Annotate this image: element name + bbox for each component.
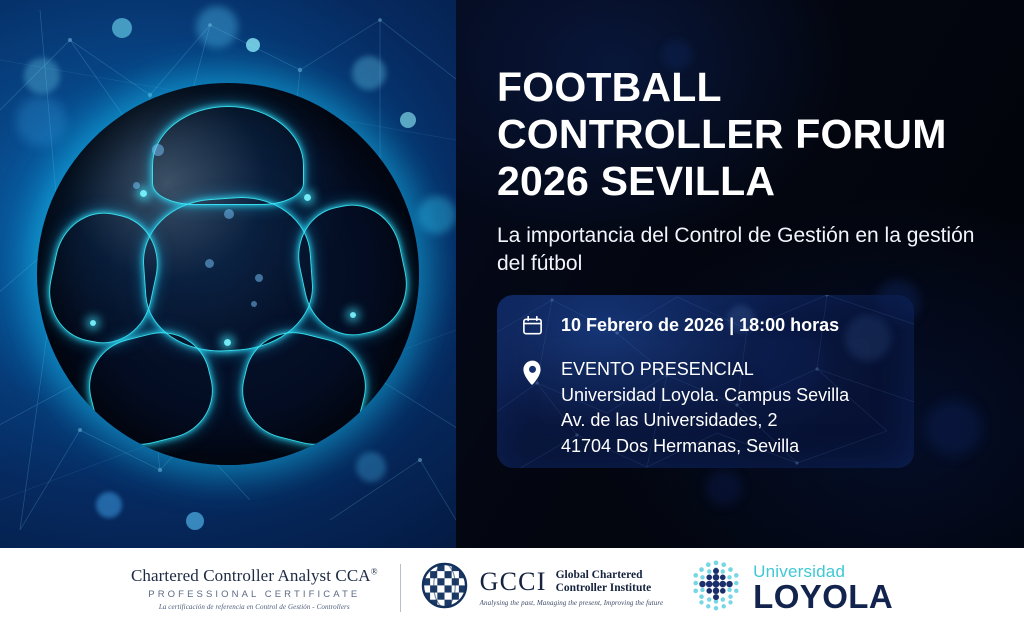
location-line-1: EVENTO PRESENCIAL	[561, 357, 849, 383]
event-location-text: EVENTO PRESENCIAL Universidad Loyola. Ca…	[561, 357, 849, 459]
headline-line-2: CONTROLLER FORUM	[497, 111, 997, 158]
ball-speck	[152, 144, 164, 156]
event-date-text: 10 Febrero de 2026 | 18:00 horas	[561, 313, 839, 339]
calendar-icon	[519, 314, 545, 337]
headline-line-1: FOOTBALL	[497, 64, 997, 111]
logo-strip: Chartered Controller Analyst CCA® PROFES…	[131, 557, 893, 620]
logo-divider	[400, 564, 401, 612]
location-line-2: Universidad Loyola. Campus Sevilla	[561, 383, 849, 409]
ball-speck	[255, 274, 263, 282]
gcci-tagline: Analysing the past, Managing the present…	[480, 599, 664, 607]
gcci-name-row: GCCI Global Chartered Controller Institu…	[480, 569, 664, 595]
cca-subtitle: PROFESSIONAL CERTIFICATE	[131, 589, 378, 600]
loyola-logo: Universidad LOYOLA	[687, 557, 893, 620]
cca-title: Chartered Controller Analyst CCA®	[131, 566, 378, 586]
map-pin-icon	[519, 357, 545, 386]
bokeh-light	[706, 470, 742, 506]
loyola-universidad-label: Universidad	[753, 563, 893, 580]
ball-speck	[133, 182, 140, 189]
event-poster: FOOTBALL CONTROLLER FORUM 2026 SEVILLA L…	[0, 0, 1024, 628]
cca-tagline: La certificación de referencia en Contro…	[131, 603, 378, 611]
cca-logo: Chartered Controller Analyst CCA® PROFES…	[131, 566, 400, 611]
event-details-card: 10 Febrero de 2026 | 18:00 horas EVENTO …	[497, 295, 914, 468]
page-title: FOOTBALL CONTROLLER FORUM 2026 SEVILLA	[497, 64, 997, 205]
ball-speck	[251, 301, 257, 307]
loyola-dotted-globe-icon	[687, 557, 745, 620]
ball-artwork-panel	[0, 0, 456, 548]
page-subtitle: La importancia del Control de Gestión en…	[497, 222, 983, 278]
poster-hero: FOOTBALL CONTROLLER FORUM 2026 SEVILLA L…	[0, 0, 1024, 548]
gcci-abbreviation: GCCI	[480, 569, 547, 595]
headline-line-3: 2026 SEVILLA	[497, 158, 997, 205]
cca-registered-mark: ®	[371, 566, 378, 576]
gcci-checkered-globe-icon	[421, 562, 468, 614]
gcci-text-lockup: GCCI Global Chartered Controller Institu…	[480, 569, 664, 607]
loyola-name-label: LOYOLA	[753, 580, 893, 614]
location-line-4: 41704 Dos Hermanas, Sevilla	[561, 434, 849, 460]
soccer-ball-graphic	[37, 83, 419, 465]
gcci-full-name-line-2: Controller Institute	[556, 582, 652, 595]
event-location-row: EVENTO PRESENCIAL Universidad Loyola. Ca…	[519, 357, 849, 459]
ball-speck	[205, 259, 214, 268]
bokeh-light	[926, 400, 982, 456]
gcci-full-name: Global Chartered Controller Institute	[556, 569, 652, 595]
loyola-text-lockup: Universidad LOYOLA	[753, 563, 893, 614]
sponsor-footer: Chartered Controller Analyst CCA® PROFES…	[0, 548, 1024, 628]
cca-title-text: Chartered Controller Analyst CCA	[131, 566, 371, 585]
gcci-logo: GCCI Global Chartered Controller Institu…	[421, 562, 688, 614]
ball-body	[37, 83, 419, 465]
event-date-row: 10 Febrero de 2026 | 18:00 horas	[519, 313, 839, 339]
location-line-3: Av. de las Universidades, 2	[561, 408, 849, 434]
gcci-full-name-line-1: Global Chartered	[556, 569, 652, 582]
